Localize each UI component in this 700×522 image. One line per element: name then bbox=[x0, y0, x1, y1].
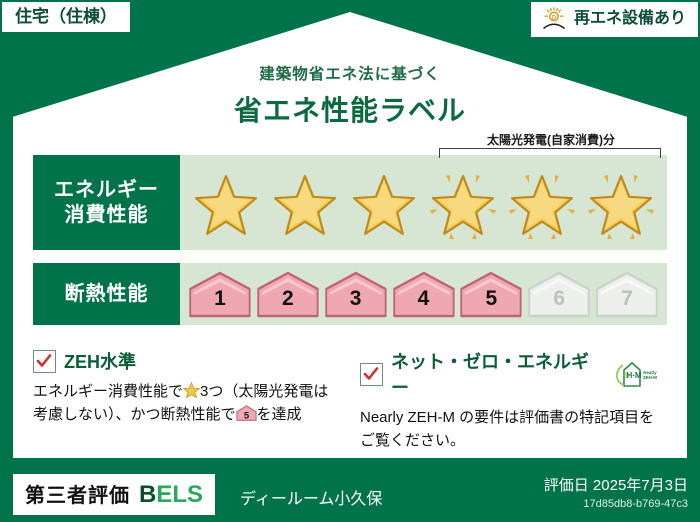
inline-star-icon bbox=[183, 382, 200, 399]
bels-badge: 第三者評価 BELS bbox=[13, 474, 215, 515]
insulation-label: 断熱性能 bbox=[65, 282, 149, 307]
nze-note-title: ネット・ゼロ・エネルギー bbox=[391, 348, 603, 400]
star-3 bbox=[347, 167, 421, 239]
building-type-chip: 住宅（住棟） bbox=[0, 0, 132, 34]
building-name: ディールーム小久保 bbox=[240, 485, 382, 509]
bels-jp-label: 第三者評価 bbox=[25, 479, 130, 508]
evaluation-id: 17d85db8-b769-47c3 bbox=[544, 498, 688, 510]
star-2 bbox=[268, 167, 342, 239]
label-footer: 第三者評価 BELS ディールーム小久保 評価日 2025年7月3日 17d85… bbox=[0, 468, 700, 522]
insulation-level-number: 2 bbox=[282, 288, 294, 318]
renewable-equipment-badge: D 再エネ設備あり bbox=[529, 0, 700, 39]
insulation-level-scale: 1 2 3 4 5 6 7 bbox=[180, 270, 667, 318]
page-title: 省エネ性能ラベル bbox=[0, 89, 700, 129]
zeh-note-header: ZEH水準 bbox=[33, 348, 332, 374]
insulation-level-number: 7 bbox=[621, 288, 633, 318]
energy-label-line2: 消費性能 bbox=[65, 203, 149, 228]
energy-label-line1: エネルギー bbox=[54, 178, 159, 203]
checkbox-checked-icon bbox=[360, 363, 383, 386]
nze-note-header: ネット・ゼロ・エネルギー H·M Nearly ZEH-M bbox=[360, 348, 659, 400]
insulation-levels-panel: 1 2 3 4 5 6 7 bbox=[180, 263, 667, 325]
svg-text:ZEH-M: ZEH-M bbox=[643, 375, 657, 380]
star-5 bbox=[505, 167, 579, 239]
zeh-text-part1: エネルギー消費性能で bbox=[33, 383, 183, 400]
solar-annotation-bracket bbox=[439, 148, 661, 158]
bels-mark-b: B bbox=[139, 481, 156, 508]
title-subtitle: 建築物省エネ法に基づく bbox=[0, 62, 700, 84]
svg-text:5: 5 bbox=[243, 411, 249, 422]
insulation-level-3: 3 bbox=[324, 270, 388, 318]
svg-text:D: D bbox=[552, 15, 557, 21]
solar-annotation-text: 太陽光発電(自家消費)分 bbox=[439, 131, 663, 148]
sun-solar-icon: D bbox=[541, 7, 567, 31]
insulation-level-number: 4 bbox=[418, 288, 430, 318]
nze-note-text: Nearly ZEH-M の要件は評価書の特記項目をご覧ください。 bbox=[360, 407, 659, 452]
insulation-level-number: 5 bbox=[486, 288, 498, 318]
insulation-level-number: 3 bbox=[350, 288, 362, 318]
net-zero-energy-note: ネット・ゼロ・エネルギー H·M Nearly ZEH-M Nearly ZEH… bbox=[346, 348, 673, 452]
evaluation-date: 評価日 2025年7月3日 bbox=[544, 474, 688, 495]
insulation-performance-row: 断熱性能 1 2 3 4 5 6 7 bbox=[33, 263, 667, 325]
energy-stars-panel: 太陽光発電(自家消費)分 bbox=[180, 155, 667, 250]
zeh-star-count: 3つ bbox=[200, 383, 223, 400]
energy-performance-row: エネルギー 消費性能 太陽光発電(自家消費)分 bbox=[33, 155, 667, 250]
insulation-level-1: 1 bbox=[188, 270, 252, 318]
insulation-row-label: 断熱性能 bbox=[33, 263, 180, 325]
nearly-zeh-m-logo-icon: H·M Nearly ZEH-M bbox=[613, 360, 659, 388]
star-4 bbox=[426, 167, 500, 239]
label-title-block: 建築物省エネ法に基づく 省エネ性能ラベル bbox=[0, 62, 700, 129]
evaluation-info: 評価日 2025年7月3日 17d85db8-b769-47c3 bbox=[544, 474, 688, 510]
zeh-note-title: ZEH水準 bbox=[64, 348, 136, 374]
insulation-level-number: 6 bbox=[553, 288, 565, 318]
inline-house-badge-icon: 5 bbox=[236, 405, 257, 421]
zeh-standard-note: ZEH水準 エネルギー消費性能で3つ（太陽光発電は考慮しない）、かつ断熱性能で5… bbox=[33, 348, 346, 452]
star-1 bbox=[189, 167, 263, 239]
zeh-note-text: エネルギー消費性能で3つ（太陽光発電は考慮しない）、かつ断熱性能で5を達成 bbox=[33, 381, 332, 426]
energy-performance-label: 住宅（住棟） D 再エネ設備あり 建築物省エネ法に基づ bbox=[0, 0, 700, 522]
insulation-level-7: 7 bbox=[595, 270, 659, 318]
insulation-level-4: 4 bbox=[392, 270, 456, 318]
energy-performance-row-label: エネルギー 消費性能 bbox=[33, 155, 180, 250]
building-type-label: 住宅（住棟） bbox=[15, 7, 117, 26]
insulation-level-5: 5 bbox=[459, 270, 523, 318]
svg-text:H·M: H·M bbox=[626, 371, 641, 380]
insulation-level-2: 2 bbox=[256, 270, 320, 318]
star-6 bbox=[584, 167, 658, 239]
star-rating bbox=[180, 167, 667, 239]
checkbox-checked-icon bbox=[33, 350, 56, 373]
insulation-level-number: 1 bbox=[214, 288, 226, 318]
zeh-text-part3: を達成 bbox=[257, 406, 302, 423]
bels-mark-els: ELS bbox=[156, 481, 203, 508]
criteria-notes: ZEH水準 エネルギー消費性能で3つ（太陽光発電は考慮しない）、かつ断熱性能で5… bbox=[33, 348, 673, 452]
bels-wordmark: BELS bbox=[139, 481, 203, 509]
insulation-level-6: 6 bbox=[527, 270, 591, 318]
renewable-badge-label: 再エネ設備あり bbox=[574, 11, 686, 27]
